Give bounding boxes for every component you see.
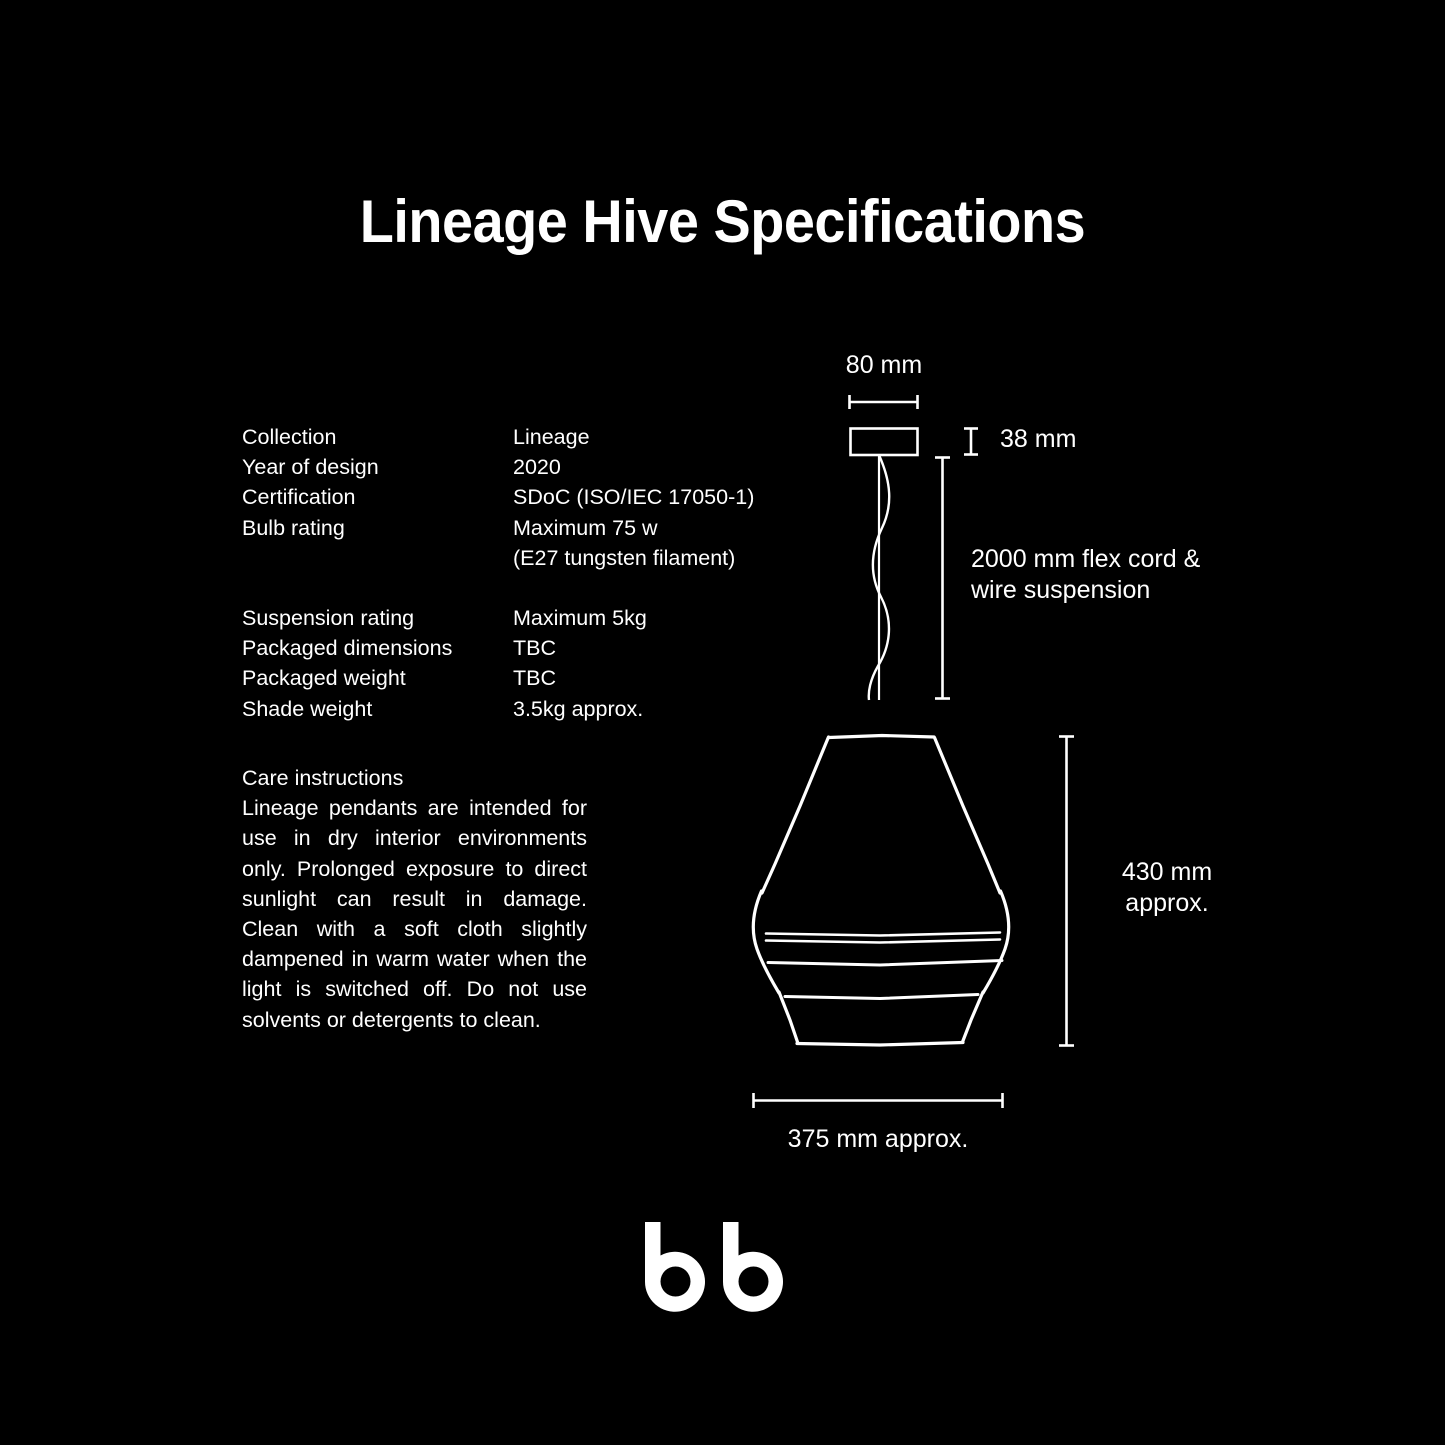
shade-right-lower-edge — [963, 992, 984, 1042]
dimension-label-80mm: 80 mm — [784, 350, 984, 381]
spec-value: 3.5kg approx. — [513, 694, 762, 724]
shade-band-1-upper — [766, 933, 1000, 936]
spec-label: Packaged dimensions — [242, 633, 513, 663]
specification-sheet: Lineage Hive Specifications Collection L… — [0, 0, 1445, 1445]
table-row: Packaged dimensions TBC — [242, 633, 762, 663]
shade-left-upper-edge — [762, 737, 829, 893]
spec-label: Packaged weight — [242, 663, 513, 693]
spec-value: TBC — [513, 633, 762, 663]
table-row: Shade weight 3.5kg approx. — [242, 694, 762, 724]
dimension-line-2000mm — [935, 457, 950, 699]
care-instructions-body: Lineage pendants are intended for use in… — [242, 793, 587, 1035]
shade-right-shoulder — [983, 891, 1009, 993]
dimension-line-38mm — [964, 428, 978, 455]
spec-label: Certification — [242, 482, 513, 512]
shade-band-1-lower — [766, 940, 1000, 943]
shade-right-upper-edge — [935, 738, 1001, 894]
table-row: Collection Lineage — [242, 422, 762, 452]
spec-value: Maximum 75 w — [513, 513, 762, 543]
spec-value: 2020 — [513, 452, 762, 482]
dimension-line-80mm — [849, 395, 918, 409]
specifications-table: Collection Lineage Year of design 2020 C… — [242, 422, 762, 724]
table-row: Bulb rating Maximum 75 w — [242, 513, 762, 543]
ceiling-rose — [851, 429, 918, 456]
table-row: Certification SDoC (ISO/IEC 17050-1) — [242, 482, 762, 512]
dimension-line-375mm — [753, 1093, 1003, 1108]
spec-label: Shade weight — [242, 694, 513, 724]
shade-left-shoulder — [753, 891, 779, 993]
shade-band-2 — [768, 961, 1002, 966]
shade-base-rim — [797, 1043, 963, 1046]
spec-label: Collection — [242, 422, 513, 452]
care-instructions-heading: Care instructions — [242, 763, 587, 793]
shade-band-3 — [785, 995, 978, 999]
spec-value: Maximum 5kg — [513, 603, 762, 633]
spec-value-continuation: (E27 tungsten filament) — [513, 543, 762, 573]
logo-letter-b-second — [723, 1222, 783, 1312]
care-instructions-block: Care instructions Lineage pendants are i… — [242, 763, 587, 1035]
bb-brand-logo — [643, 1218, 801, 1318]
table-row: Packaged weight TBC — [242, 663, 762, 693]
logo-letter-b-first — [645, 1222, 705, 1312]
spec-value: TBC — [513, 663, 762, 693]
dimension-label-suspension: 2000 mm flex cord & wire suspension — [971, 544, 1301, 606]
spec-label: Suspension rating — [242, 603, 513, 633]
shade-top-rim — [829, 736, 934, 738]
page-title: Lineage Hive Specifications — [51, 192, 1395, 252]
table-row: Suspension rating Maximum 5kg — [242, 603, 762, 633]
dimension-label-38mm: 38 mm — [1000, 424, 1076, 455]
shade-left-lower-edge — [779, 992, 798, 1042]
spec-value: SDoC (ISO/IEC 17050-1) — [513, 482, 762, 512]
dimension-label-430mm: 430 mm approx. — [1067, 857, 1267, 919]
suspension-cord-twist — [869, 455, 889, 700]
dimension-label-375mm: 375 mm approx. — [678, 1124, 1078, 1155]
table-row: Year of design 2020 — [242, 452, 762, 482]
spec-value: Lineage — [513, 422, 762, 452]
spec-label: Year of design — [242, 452, 513, 482]
spec-label: Bulb rating — [242, 513, 513, 543]
